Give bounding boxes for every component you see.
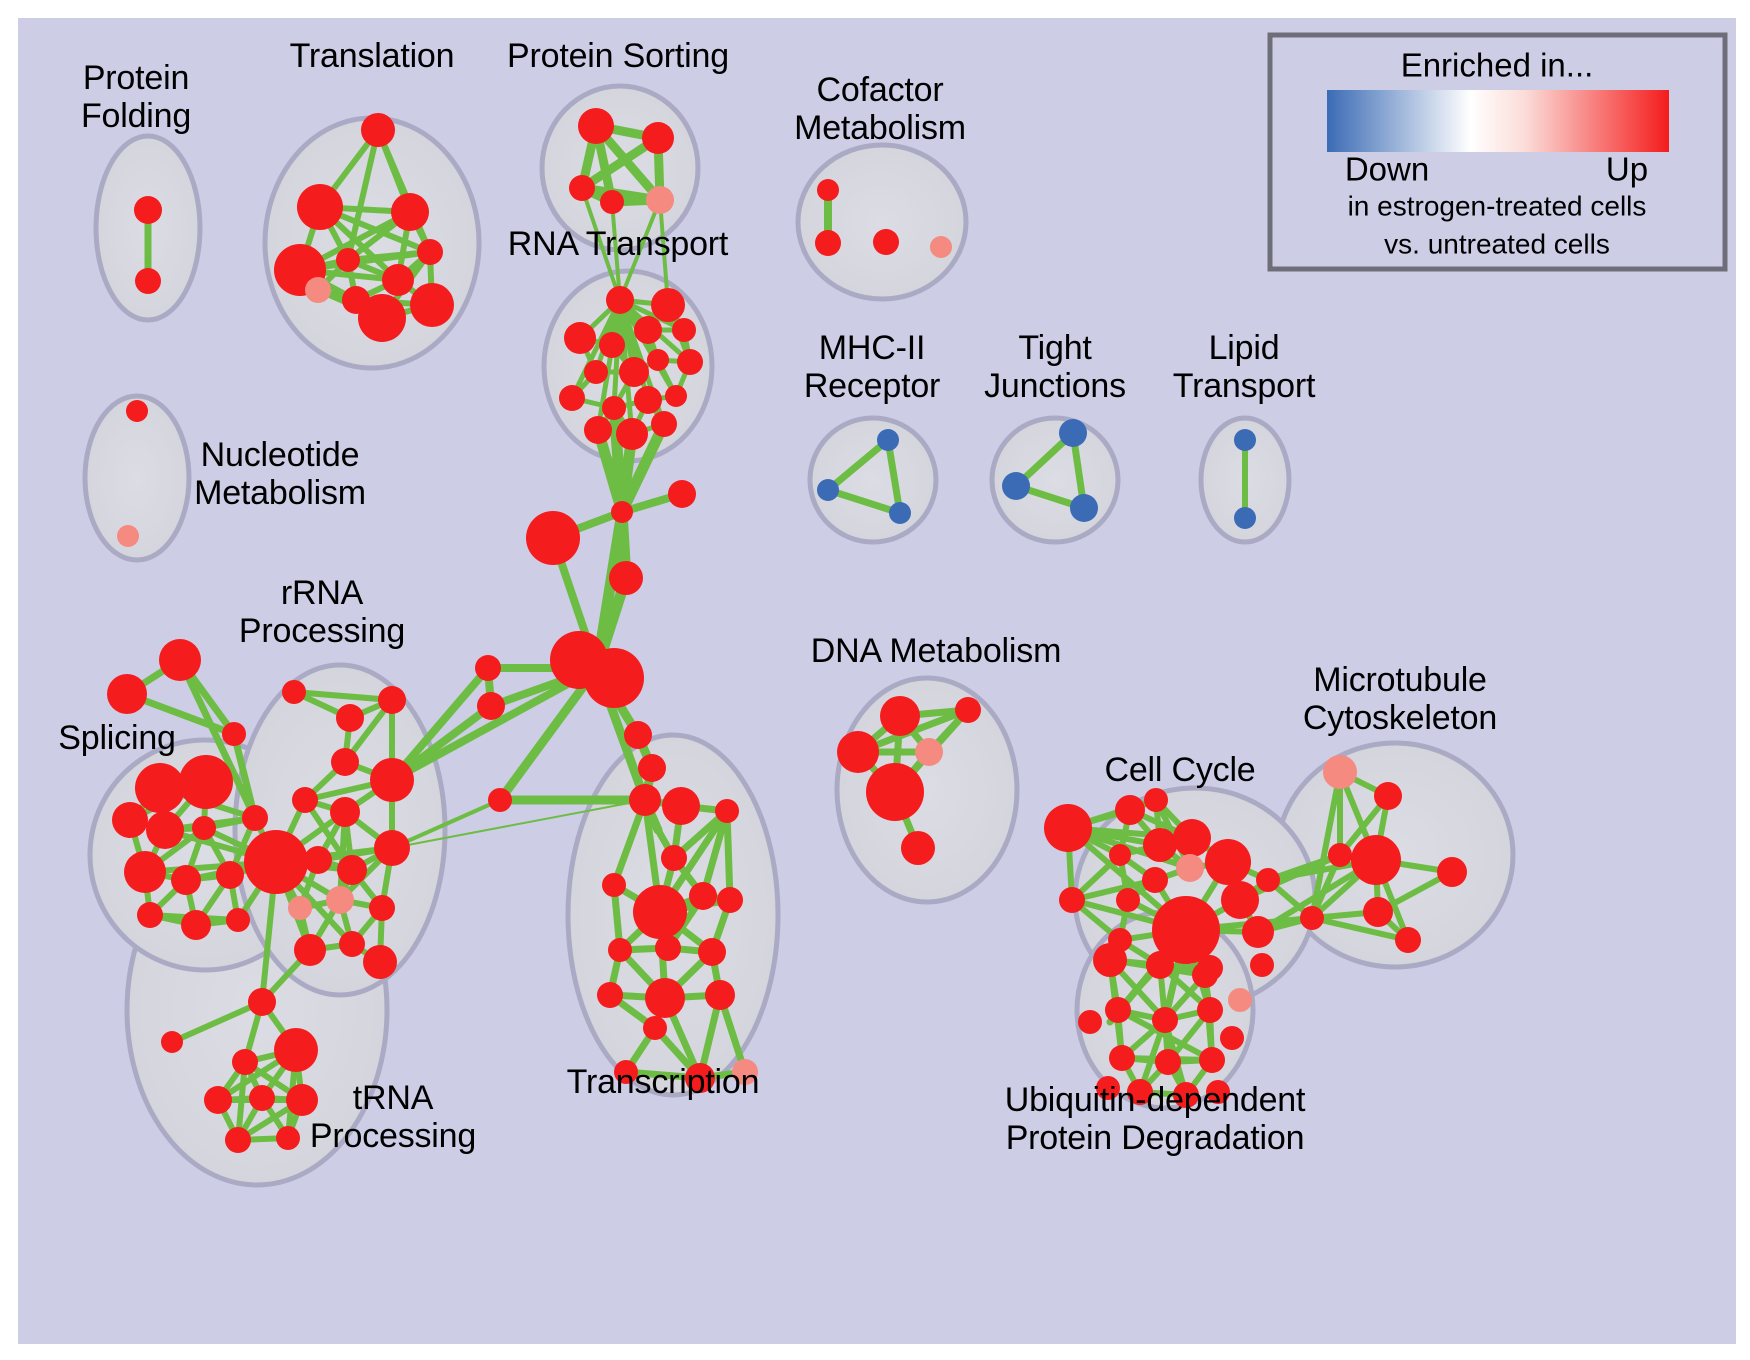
label-microtubule-cytoskeleton: MicrotubuleCytoskeleton xyxy=(1303,661,1497,737)
node[interactable] xyxy=(1228,988,1252,1012)
node[interactable] xyxy=(606,286,634,314)
node[interactable] xyxy=(634,386,662,414)
node[interactable] xyxy=(599,332,625,358)
node[interactable] xyxy=(226,908,250,932)
node[interactable] xyxy=(410,283,454,327)
node[interactable] xyxy=(382,264,414,296)
node[interactable] xyxy=(609,561,643,595)
node[interactable] xyxy=(715,799,739,823)
node[interactable] xyxy=(161,1031,183,1053)
node[interactable] xyxy=(880,696,920,736)
node[interactable] xyxy=(645,978,685,1018)
node[interactable] xyxy=(378,686,406,714)
node[interactable] xyxy=(629,784,661,816)
node[interactable] xyxy=(602,873,626,897)
node[interactable] xyxy=(569,175,595,201)
node[interactable] xyxy=(651,288,685,322)
node[interactable] xyxy=(611,501,633,523)
node[interactable] xyxy=(292,787,318,813)
node[interactable] xyxy=(643,1016,667,1040)
node[interactable] xyxy=(336,248,360,272)
label-translation: Translation xyxy=(290,37,455,75)
node[interactable] xyxy=(204,1086,232,1114)
node[interactable] xyxy=(146,811,184,849)
node[interactable] xyxy=(331,748,359,776)
legend-down-label: Down xyxy=(1345,151,1429,188)
node[interactable] xyxy=(624,721,652,749)
label-splicing: Splicing xyxy=(58,719,175,757)
node[interactable] xyxy=(889,502,911,524)
label-rna-transport: RNA Transport xyxy=(508,225,729,263)
node[interactable] xyxy=(1220,1026,1244,1050)
node[interactable] xyxy=(647,349,669,371)
node[interactable] xyxy=(1323,755,1357,789)
node[interactable] xyxy=(1300,906,1324,930)
label-transcription: Transcription xyxy=(567,1063,760,1101)
node[interactable] xyxy=(336,704,364,732)
node[interactable] xyxy=(391,193,429,231)
node[interactable] xyxy=(1044,804,1092,852)
node[interactable] xyxy=(1144,788,1168,812)
node[interactable] xyxy=(134,196,162,224)
node[interactable] xyxy=(369,895,395,921)
node[interactable] xyxy=(1242,916,1274,948)
node[interactable] xyxy=(232,1049,258,1075)
legend-up-label: Up xyxy=(1606,151,1648,188)
node[interactable] xyxy=(578,108,614,144)
node[interactable] xyxy=(475,655,501,681)
node[interactable] xyxy=(1143,828,1177,862)
node[interactable] xyxy=(901,831,935,865)
node[interactable] xyxy=(1152,1007,1178,1033)
node[interactable] xyxy=(817,179,839,201)
node[interactable] xyxy=(1328,843,1352,867)
node[interactable] xyxy=(646,186,674,214)
node[interactable] xyxy=(363,945,397,979)
node[interactable] xyxy=(1109,1045,1135,1071)
label-cofactor-metabolism: CofactorMetabolism xyxy=(794,71,966,147)
node[interactable] xyxy=(1176,854,1204,882)
legend-colorbar xyxy=(1327,90,1669,152)
node[interactable] xyxy=(1155,1049,1181,1075)
node[interactable] xyxy=(126,400,148,422)
figure-canvas: ProteinFolding Translation Protein Sorti… xyxy=(0,0,1750,1360)
node[interactable] xyxy=(1199,1047,1225,1073)
node[interactable] xyxy=(677,349,703,375)
node[interactable] xyxy=(159,639,201,681)
node[interactable] xyxy=(817,479,839,501)
node[interactable] xyxy=(276,1126,300,1150)
node[interactable] xyxy=(339,931,365,957)
node[interactable] xyxy=(1070,494,1098,522)
label-dna-metabolism: DNA Metabolism xyxy=(811,632,1061,670)
node[interactable] xyxy=(655,935,681,961)
node[interactable] xyxy=(1234,429,1256,451)
node[interactable] xyxy=(877,429,899,451)
node[interactable] xyxy=(1059,419,1087,447)
legend-panel: Enriched in... Down Up in estrogen-treat… xyxy=(1270,35,1725,269)
node[interactable] xyxy=(634,316,662,344)
node[interactable] xyxy=(717,887,743,913)
node[interactable] xyxy=(1197,997,1223,1023)
node[interactable] xyxy=(124,851,166,893)
node[interactable] xyxy=(286,1084,318,1116)
node[interactable] xyxy=(873,229,899,255)
node[interactable] xyxy=(222,722,246,746)
node[interactable] xyxy=(915,738,943,766)
node[interactable] xyxy=(216,861,244,889)
node[interactable] xyxy=(242,805,268,831)
node[interactable] xyxy=(955,697,981,723)
node[interactable] xyxy=(135,763,185,813)
legend-caption-line1: in estrogen-treated cells xyxy=(1348,190,1647,221)
node[interactable] xyxy=(112,802,148,838)
node[interactable] xyxy=(1093,943,1127,977)
node[interactable] xyxy=(1437,857,1467,887)
node[interactable] xyxy=(305,277,331,303)
node[interactable] xyxy=(1109,844,1131,866)
node[interactable] xyxy=(651,411,677,437)
node[interactable] xyxy=(930,236,952,258)
cluster-halo-cofactor xyxy=(798,145,966,299)
node[interactable] xyxy=(304,846,332,874)
label-nucleotide-metabolism: NucleotideMetabolism xyxy=(194,436,366,512)
node[interactable] xyxy=(1105,997,1131,1023)
enrichment-network-plot: ProteinFolding Translation Protein Sorti… xyxy=(0,0,1750,1360)
node[interactable] xyxy=(1205,839,1251,885)
node[interactable] xyxy=(1115,795,1145,825)
node[interactable] xyxy=(326,886,354,914)
node[interactable] xyxy=(526,511,580,565)
node[interactable] xyxy=(837,731,879,773)
node[interactable] xyxy=(602,396,626,420)
node[interactable] xyxy=(642,122,674,154)
node[interactable] xyxy=(1192,962,1218,988)
node[interactable] xyxy=(358,294,406,342)
node[interactable] xyxy=(866,763,924,821)
node[interactable] xyxy=(1234,507,1256,529)
node[interactable] xyxy=(135,268,161,294)
node[interactable] xyxy=(337,855,367,885)
node[interactable] xyxy=(1221,881,1259,919)
node[interactable] xyxy=(638,754,666,782)
node[interactable] xyxy=(608,938,632,962)
node[interactable] xyxy=(294,934,326,966)
node[interactable] xyxy=(361,113,395,147)
node[interactable] xyxy=(665,385,687,407)
node[interactable] xyxy=(225,1127,251,1153)
label-cell-cycle: Cell Cycle xyxy=(1104,751,1255,789)
node[interactable] xyxy=(192,816,216,840)
node[interactable] xyxy=(600,190,624,214)
node[interactable] xyxy=(488,788,512,812)
node[interactable] xyxy=(374,830,410,866)
node[interactable] xyxy=(633,885,687,939)
node[interactable] xyxy=(815,230,841,256)
node[interactable] xyxy=(1173,819,1211,857)
node[interactable] xyxy=(559,385,585,411)
node[interactable] xyxy=(274,1028,318,1072)
node[interactable] xyxy=(249,1085,275,1111)
legend-title: Enriched in... xyxy=(1401,47,1594,84)
node[interactable] xyxy=(672,318,696,342)
node[interactable] xyxy=(417,239,443,265)
label-mhc-ii-receptor: MHC-IIReceptor xyxy=(804,329,940,405)
node[interactable] xyxy=(705,980,735,1010)
node[interactable] xyxy=(1116,888,1140,912)
node[interactable] xyxy=(171,865,201,895)
node[interactable] xyxy=(661,845,687,871)
node[interactable] xyxy=(181,910,211,940)
node[interactable] xyxy=(1142,867,1168,893)
legend-caption-line2: vs. untreated cells xyxy=(1384,228,1610,259)
label-protein-sorting: Protein Sorting xyxy=(507,37,729,75)
node[interactable] xyxy=(584,416,612,444)
node[interactable] xyxy=(297,184,343,230)
node[interactable] xyxy=(668,480,696,508)
node[interactable] xyxy=(370,758,414,802)
node[interactable] xyxy=(1395,927,1421,953)
node[interactable] xyxy=(107,674,147,714)
node[interactable] xyxy=(584,648,644,708)
node[interactable] xyxy=(1250,953,1274,977)
node[interactable] xyxy=(477,692,505,720)
node[interactable] xyxy=(584,360,608,384)
node[interactable] xyxy=(248,988,276,1016)
node[interactable] xyxy=(597,982,623,1008)
node[interactable] xyxy=(698,938,726,966)
node[interactable] xyxy=(1059,887,1085,913)
node[interactable] xyxy=(282,680,306,704)
node[interactable] xyxy=(288,896,312,920)
node[interactable] xyxy=(179,755,233,809)
node[interactable] xyxy=(1374,782,1402,810)
node[interactable] xyxy=(117,525,139,547)
node[interactable] xyxy=(1147,952,1173,978)
label-ubiquitin-protein-degradation: Ubiquitin-dependentProtein Degradation xyxy=(1005,1081,1306,1157)
node[interactable] xyxy=(1002,472,1030,500)
node[interactable] xyxy=(244,830,308,894)
node[interactable] xyxy=(662,787,700,825)
node[interactable] xyxy=(616,418,648,450)
node[interactable] xyxy=(1078,1010,1102,1034)
node[interactable] xyxy=(1256,868,1280,892)
label-protein-folding: ProteinFolding xyxy=(81,59,191,135)
node[interactable] xyxy=(689,882,717,910)
node[interactable] xyxy=(1363,897,1393,927)
node[interactable] xyxy=(330,797,360,827)
node[interactable] xyxy=(619,357,649,387)
node[interactable] xyxy=(137,902,163,928)
node[interactable] xyxy=(1351,835,1401,885)
node[interactable] xyxy=(564,322,596,354)
